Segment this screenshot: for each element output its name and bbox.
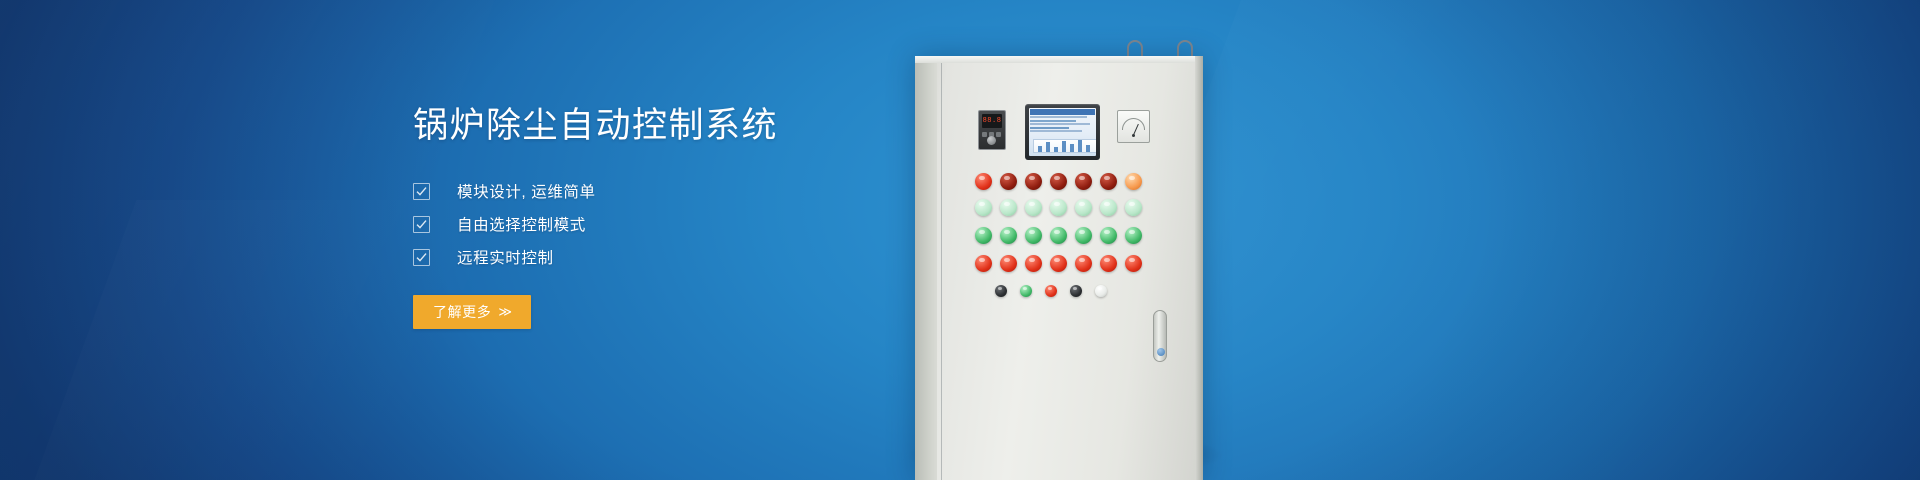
selector-switch[interactable] <box>1095 285 1107 297</box>
indicator-lamp[interactable] <box>1050 227 1067 244</box>
cta-container: 了解更多 ≫ <box>413 295 973 329</box>
hmi-touch-panel <box>1025 104 1100 160</box>
gauge-scale-arc <box>1122 118 1145 130</box>
control-cabinet-side-panel <box>915 56 937 480</box>
list-item: 模块设计, 运维简单 <box>413 175 973 208</box>
indicator-lamp[interactable] <box>1025 227 1042 244</box>
indicator-lamp[interactable] <box>1125 255 1142 272</box>
selector-switch[interactable] <box>1070 285 1082 297</box>
selector-switch[interactable] <box>995 285 1007 297</box>
cabinet-door-handle[interactable] <box>1153 310 1167 362</box>
feature-label: 自由选择控制模式 <box>457 213 586 235</box>
indicator-lamp[interactable] <box>1125 173 1142 190</box>
digital-readout-value: 88.8 <box>983 117 1002 125</box>
indicator-lamp[interactable] <box>1025 199 1042 216</box>
feature-label: 远程实时控制 <box>457 246 554 268</box>
feature-list: 模块设计, 运维简单 自由选择控制模式 远程实时控制 <box>413 175 973 274</box>
hmi-trend-chart <box>1033 139 1096 153</box>
hmi-content-rows <box>1029 115 1096 135</box>
indicator-lamp[interactable] <box>1100 173 1117 190</box>
indicator-lamp[interactable] <box>1000 227 1017 244</box>
list-item: 远程实时控制 <box>413 241 973 274</box>
hmi-row <box>1030 130 1082 132</box>
hero-banner: 锅炉除尘自动控制系统 模块设计, 运维简单 自由选择控制模式 <box>0 0 1920 480</box>
indicator-lamp[interactable] <box>975 227 992 244</box>
module-button-icon <box>982 132 987 137</box>
list-item: 自由选择控制模式 <box>413 208 973 241</box>
indicator-lamp[interactable] <box>1125 227 1142 244</box>
indicator-lamp[interactable] <box>1075 173 1092 190</box>
indicator-lamp[interactable] <box>975 255 992 272</box>
gauge-face <box>1121 114 1146 139</box>
indicator-lamp[interactable] <box>1000 255 1017 272</box>
analog-gauge <box>1117 110 1150 143</box>
hmi-screen <box>1029 108 1096 156</box>
indicator-lamp[interactable] <box>1050 173 1067 190</box>
indicator-row-2 <box>975 199 1150 216</box>
indicator-lamp[interactable] <box>1125 199 1142 216</box>
indicator-row-3 <box>975 227 1150 244</box>
selector-row-5 <box>995 285 1120 297</box>
digital-controller-module: 88.8 <box>978 110 1006 150</box>
checkbox-checked-icon <box>413 249 430 266</box>
hmi-row <box>1030 116 1087 118</box>
indicator-lamp[interactable] <box>1100 227 1117 244</box>
page-title: 锅炉除尘自动控制系统 <box>413 104 973 148</box>
double-chevron-right-icon: ≫ <box>498 304 511 320</box>
product-image: 88.8 <box>905 0 1920 480</box>
control-cabinet-door-seam <box>941 63 942 480</box>
selector-switch[interactable] <box>1045 285 1057 297</box>
feature-label: 模块设计, 运维简单 <box>457 180 596 202</box>
selector-switch[interactable] <box>1020 285 1032 297</box>
indicator-lamp[interactable] <box>1000 199 1017 216</box>
indicator-lamp[interactable] <box>975 173 992 190</box>
indicator-lamp[interactable] <box>1025 173 1042 190</box>
hmi-row <box>1030 123 1090 125</box>
control-cabinet-right-edge <box>1195 56 1203 480</box>
indicator-lamp[interactable] <box>975 199 992 216</box>
indicator-lamp[interactable] <box>1075 255 1092 272</box>
indicator-lamp[interactable] <box>1050 255 1067 272</box>
checkbox-checked-icon <box>413 183 430 200</box>
hero-copy: 锅炉除尘自动控制系统 模块设计, 运维简单 自由选择控制模式 <box>413 104 973 329</box>
module-knob-icon <box>987 136 996 145</box>
learn-more-label: 了解更多 <box>433 302 491 322</box>
hmi-row <box>1030 120 1076 122</box>
indicator-lamp[interactable] <box>1025 255 1042 272</box>
indicator-row-4 <box>975 255 1150 272</box>
digital-readout-screen: 88.8 <box>982 114 1002 128</box>
checkbox-checked-icon <box>413 216 430 233</box>
indicator-lamp[interactable] <box>1100 255 1117 272</box>
indicator-lamp[interactable] <box>1000 173 1017 190</box>
gauge-pivot <box>1132 134 1135 137</box>
learn-more-button[interactable]: 了解更多 ≫ <box>413 295 531 329</box>
indicator-lamp[interactable] <box>1050 199 1067 216</box>
control-cabinet-top-edge <box>915 56 1203 63</box>
lock-icon <box>1157 348 1165 356</box>
indicator-lamp[interactable] <box>1100 199 1117 216</box>
module-button-icon <box>996 132 1001 137</box>
hmi-row <box>1030 127 1069 129</box>
indicator-lamp[interactable] <box>1075 227 1092 244</box>
indicator-lamp[interactable] <box>1075 199 1092 216</box>
indicator-row-1 <box>975 173 1150 190</box>
